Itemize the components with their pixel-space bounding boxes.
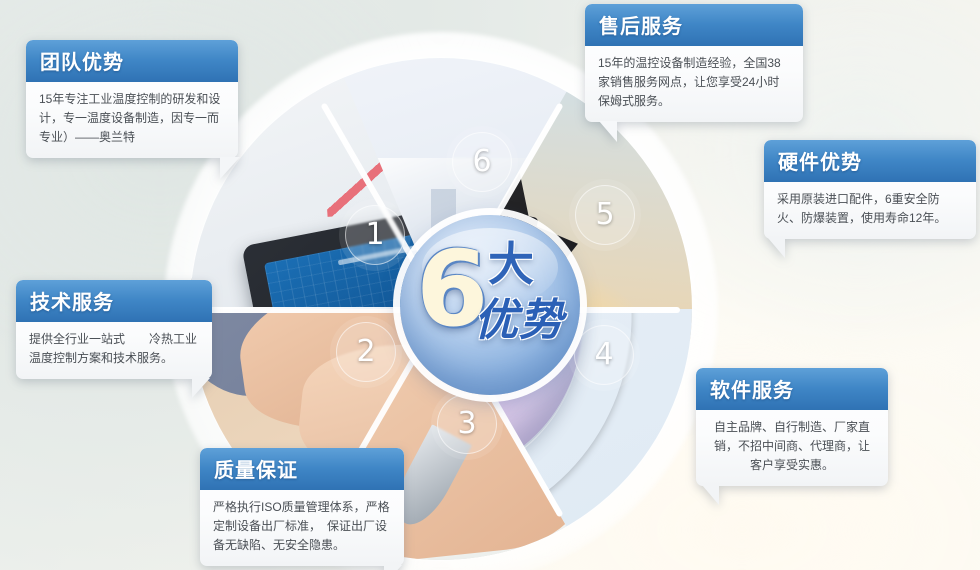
card-body-quality-assurance: 严格执行ISO质量管理体系，严格定制设备出厂标准， 保证出厂设备无缺陷、无安全隐…: [200, 490, 404, 566]
card-body-software-service: 自主品牌、自行制造、厂家直销，不招中间商、代理商，让客户享受实惠。: [696, 410, 888, 486]
callout-tail: [220, 157, 240, 179]
callout-card-software-service[interactable]: 软件服务 自主品牌、自行制造、厂家直销，不招中间商、代理商，让客户享受实惠。: [696, 368, 888, 486]
callout-card-hardware-advantage[interactable]: 硬件优势 采用原装进口配件，6重安全防火、防爆装置，使用寿命12年。: [764, 140, 976, 239]
card-title-team-advantage: 团队优势: [26, 40, 238, 82]
card-title-hardware-advantage: 硬件优势: [764, 140, 976, 182]
callout-card-technical-service[interactable]: 技术服务 提供全行业一站式 冷热工业温度控制方案和技术服务。: [16, 280, 212, 379]
center-badge[interactable]: 6 大 优势: [400, 215, 580, 395]
segment-number-5[interactable]: 5: [575, 185, 635, 245]
callout-tail: [384, 565, 402, 570]
callout-card-after-sales-service[interactable]: 售后服务 15年的温控设备制造经验，全国38家销售服务网点，让您享受24小时保姆…: [585, 4, 803, 122]
segment-number-3[interactable]: 3: [437, 394, 497, 454]
segment-number-6[interactable]: 6: [452, 132, 512, 192]
card-title-quality-assurance: 质量保证: [200, 448, 404, 490]
card-title-software-service: 软件服务: [696, 368, 888, 410]
infographic-stage: iNTC 1 2 3 4 5 6: [0, 0, 980, 570]
card-body-technical-service: 提供全行业一站式 冷热工业温度控制方案和技术服务。: [16, 322, 212, 379]
callout-tail: [599, 121, 617, 142]
segment-number-2[interactable]: 2: [336, 322, 396, 382]
callout-card-team-advantage[interactable]: 团队优势 15年专注工业温度控制的研发和设计，专一温度设备制造，因专一而专业）—…: [26, 40, 238, 158]
card-body-team-advantage: 15年专注工业温度控制的研发和设计，专一温度设备制造，因专一而专业）——奥兰特: [26, 82, 238, 158]
card-title-after-sales-service: 售后服务: [585, 4, 803, 46]
card-body-hardware-advantage: 采用原装进口配件，6重安全防火、防爆装置，使用寿命12年。: [764, 182, 976, 239]
center-unit: 大: [488, 241, 534, 287]
callout-tail: [192, 378, 210, 398]
segment-number-4[interactable]: 4: [574, 325, 634, 385]
segment-number-1[interactable]: 1: [345, 205, 405, 265]
callout-tail: [702, 485, 719, 505]
card-title-technical-service: 技术服务: [16, 280, 212, 322]
card-body-after-sales-service: 15年的温控设备制造经验，全国38家销售服务网点，让您享受24小时保姆式服务。: [585, 46, 803, 122]
center-word: 优势: [474, 297, 564, 345]
callout-card-quality-assurance[interactable]: 质量保证 严格执行ISO质量管理体系，严格定制设备出厂标准， 保证出厂设备无缺陷…: [200, 448, 404, 566]
callout-tail: [768, 238, 785, 258]
